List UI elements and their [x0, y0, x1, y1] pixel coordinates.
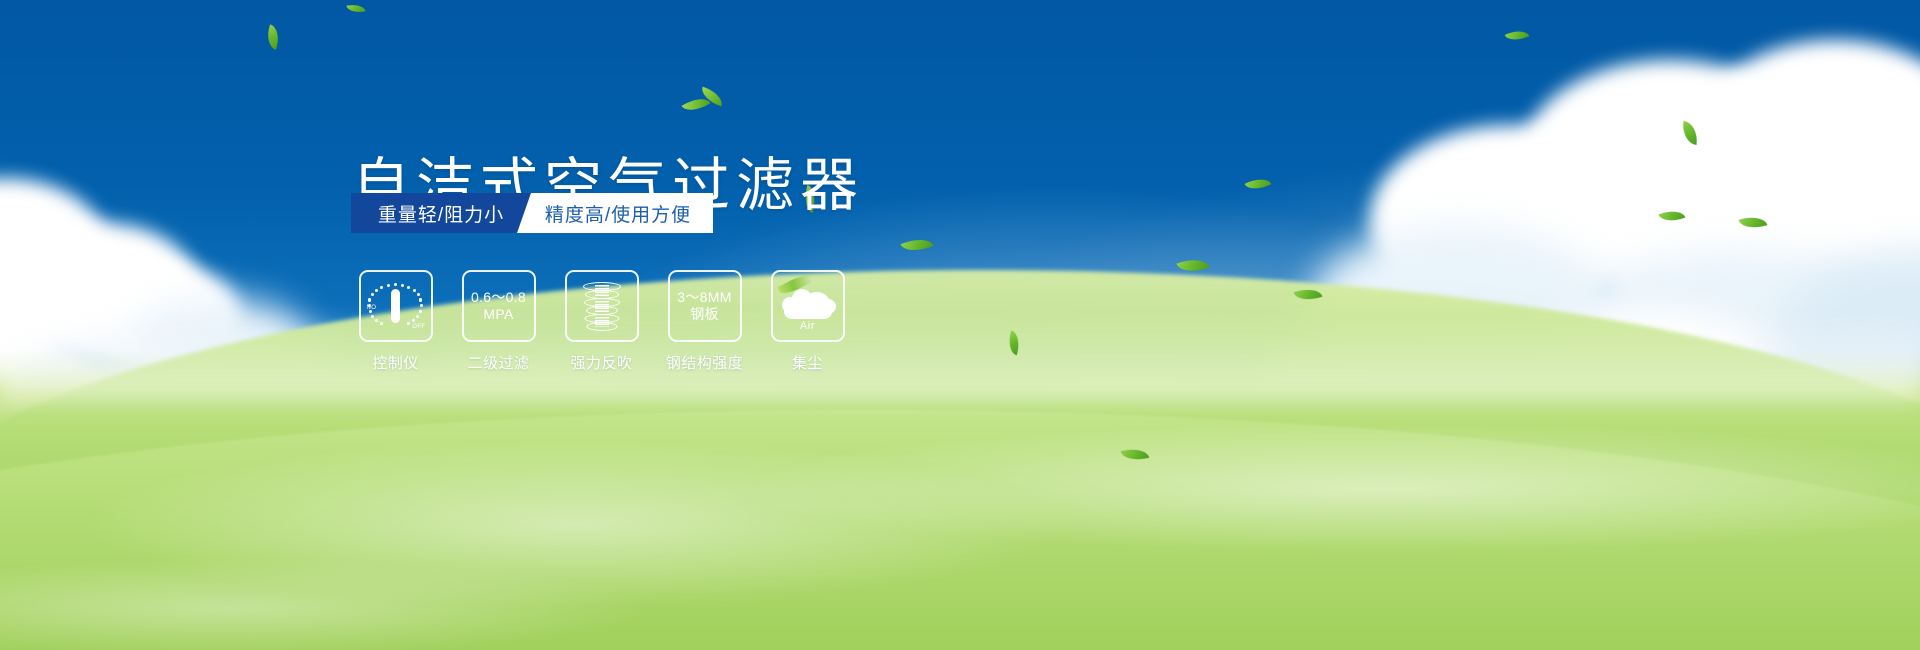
steel-plate-text-icon: 3～8MM 钢板: [668, 270, 742, 342]
feature-item: 3～8MM 钢板 钢结构强度: [667, 270, 742, 373]
feature-caption: 二级过滤: [467, 352, 529, 373]
dial-graphic: NO OFF: [368, 281, 424, 331]
pressure-text-icon: 0.6～0.8 MPA: [462, 270, 536, 342]
product-banner: 自洁式空气过滤器 重量轻/阻力小 精度高/使用方便: [0, 0, 1920, 650]
feature-caption: 钢结构强度: [666, 352, 744, 373]
steel-material: 钢板: [690, 306, 719, 323]
feature-caption: 强力反吹: [570, 352, 632, 373]
feature-item: 强力反吹: [564, 270, 639, 373]
tag-secondary: 精度高/使用方便: [517, 193, 713, 233]
dial-label-off: OFF: [412, 324, 425, 330]
pressure-unit: MPA: [483, 306, 513, 323]
air-cloud-icon: Air: [771, 270, 845, 342]
feature-caption: 集尘: [792, 352, 823, 373]
feature-list: NO OFF 控制仪 0.6～0.8 MPA 二级过滤: [358, 270, 845, 373]
pressure-value: 0.6～0.8: [471, 289, 526, 306]
backblow-coil-icon: [565, 270, 639, 342]
banner-content: 自洁式空气过滤器 重量轻/阻力小 精度高/使用方便: [0, 0, 1920, 650]
title-leaf-icon: [683, 88, 727, 122]
feature-caption: 控制仪: [372, 352, 419, 373]
dial-label-on: NO: [367, 305, 377, 311]
feature-item: Air 集尘: [770, 270, 845, 373]
tagline-group: 重量轻/阻力小 精度高/使用方便: [351, 193, 713, 233]
feature-item: NO OFF 控制仪: [358, 270, 433, 373]
cloud-graphic: Air: [780, 283, 836, 329]
steel-thickness: 3～8MM: [677, 289, 731, 306]
control-dial-icon: NO OFF: [359, 270, 433, 342]
feature-item: 0.6～0.8 MPA 二级过滤: [461, 270, 536, 373]
air-label: Air: [780, 320, 836, 332]
coil-graphic: [579, 282, 625, 330]
tag-primary: 重量轻/阻力小: [351, 193, 531, 233]
